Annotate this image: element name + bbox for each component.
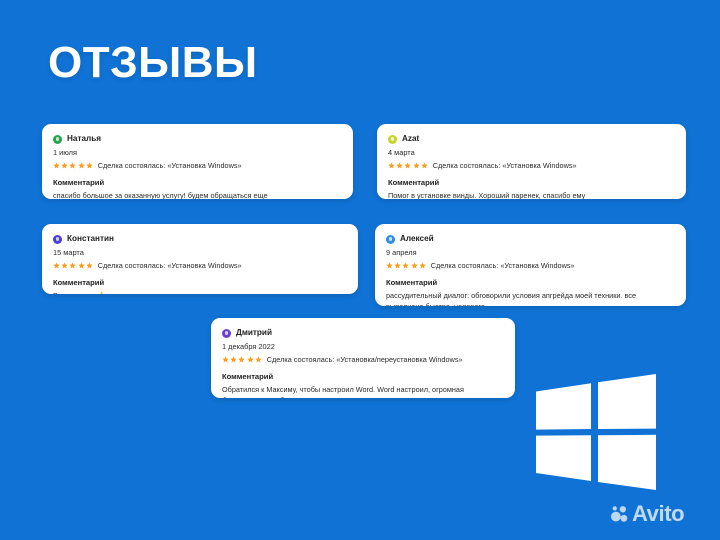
- star-icon: [238, 356, 245, 363]
- star-icon: [69, 262, 76, 269]
- rating-stars: [222, 356, 262, 363]
- avatar: [53, 135, 62, 144]
- rating-stars: [386, 262, 426, 269]
- review-deal-row: Сделка состоялась: «Установка/переустано…: [222, 354, 504, 365]
- rating-stars: [53, 262, 93, 269]
- review-deal-text: Сделка состоялась: «Установка/переустано…: [267, 355, 463, 365]
- review-author: Azat: [402, 134, 419, 144]
- comment-label: Комментарий: [53, 178, 342, 188]
- star-icon: [396, 162, 403, 169]
- review-author: Константин: [67, 234, 114, 244]
- star-icon: [386, 262, 393, 269]
- windows-logo: [534, 372, 658, 494]
- star-icon: [413, 162, 420, 169]
- star-icon: [53, 262, 60, 269]
- star-icon: [388, 162, 395, 169]
- comment-text: спасибо большое за оказанную услугу! буд…: [53, 191, 342, 199]
- star-icon: [255, 356, 262, 363]
- star-icon: [61, 262, 68, 269]
- star-icon: [61, 162, 68, 169]
- review-deal-row: Сделка состоялась: «Установка Windows»: [386, 260, 675, 271]
- avatar: [388, 135, 397, 144]
- review-deal-row: Сделка состоялась: «Установка Windows»: [53, 260, 347, 271]
- review-date: 1 декабря 2022: [222, 341, 504, 352]
- star-icon: [247, 356, 254, 363]
- avatar: [53, 235, 62, 244]
- star-icon: [421, 162, 428, 169]
- star-icon: [419, 262, 426, 269]
- star-icon: [402, 262, 409, 269]
- star-icon: [86, 162, 93, 169]
- star-icon: [78, 162, 85, 169]
- star-icon: [53, 162, 60, 169]
- rating-stars: [388, 162, 428, 169]
- review-card[interactable]: Алексей9 апреляСделка состоялась: «Устан…: [375, 224, 686, 306]
- avatar: [386, 235, 395, 244]
- review-deal-row: Сделка состоялась: «Установка Windows»: [53, 160, 342, 171]
- review-deal-text: Сделка состоялась: «Установка Windows»: [433, 161, 577, 171]
- comment-label: Комментарий: [222, 372, 504, 382]
- page-title: ОТЗЫВЫ: [48, 38, 258, 88]
- review-header: Наталья: [53, 133, 342, 145]
- review-card[interactable]: Константин15 мартаСделка состоялась: «Ус…: [42, 224, 358, 294]
- avatar: [222, 329, 231, 338]
- review-author: Наталья: [67, 134, 101, 144]
- avito-watermark: Avito: [610, 503, 684, 525]
- review-deal-text: Сделка состоялась: «Установка Windows»: [98, 161, 242, 171]
- star-icon: [86, 262, 93, 269]
- star-icon: [222, 356, 229, 363]
- star-icon: [404, 162, 411, 169]
- review-date: 4 марта: [388, 147, 675, 158]
- review-deal-row: Сделка состоялась: «Установка Windows»: [388, 160, 675, 171]
- star-icon: [394, 262, 401, 269]
- comment-label: Комментарий: [53, 278, 347, 288]
- comment-label: Комментарий: [386, 278, 675, 288]
- comment-text: Обратился к Максиму, чтобы настроил Word…: [222, 385, 504, 398]
- comment-text: рассудительный диалог: обговорили услови…: [386, 291, 675, 306]
- comment-text: Помог в установке винды. Хороший паренек…: [388, 191, 675, 199]
- rating-stars: [53, 162, 93, 169]
- review-date: 15 марта: [53, 247, 347, 258]
- review-deal-text: Сделка состоялась: «Установка Windows»: [98, 261, 242, 271]
- review-header: Константин: [53, 233, 347, 245]
- review-date: 1 июля: [53, 147, 342, 158]
- slide-canvas: ОТЗЫВЫ Наталья1 июляСделка состоялась: «…: [0, 0, 720, 540]
- review-header: Azat: [388, 133, 675, 145]
- star-icon: [69, 162, 76, 169]
- review-header: Дмитрий: [222, 327, 504, 339]
- review-header: Алексей: [386, 233, 675, 245]
- review-card[interactable]: Azat4 мартаСделка состоялась: «Установка…: [377, 124, 686, 199]
- review-card[interactable]: Дмитрий1 декабря 2022Сделка состоялась: …: [211, 318, 515, 398]
- star-icon: [411, 262, 418, 269]
- comment-label: Комментарий: [388, 178, 675, 188]
- review-author: Дмитрий: [236, 328, 272, 338]
- comment-text: Все отлично 👍: [53, 291, 347, 294]
- review-card[interactable]: Наталья1 июляСделка состоялась: «Установ…: [42, 124, 353, 199]
- review-author: Алексей: [400, 234, 434, 244]
- review-date: 9 апреля: [386, 247, 675, 258]
- star-icon: [78, 262, 85, 269]
- review-deal-text: Сделка состоялась: «Установка Windows»: [431, 261, 575, 271]
- avito-dots-icon: [610, 505, 629, 524]
- star-icon: [230, 356, 237, 363]
- avito-wordmark: Avito: [632, 503, 684, 525]
